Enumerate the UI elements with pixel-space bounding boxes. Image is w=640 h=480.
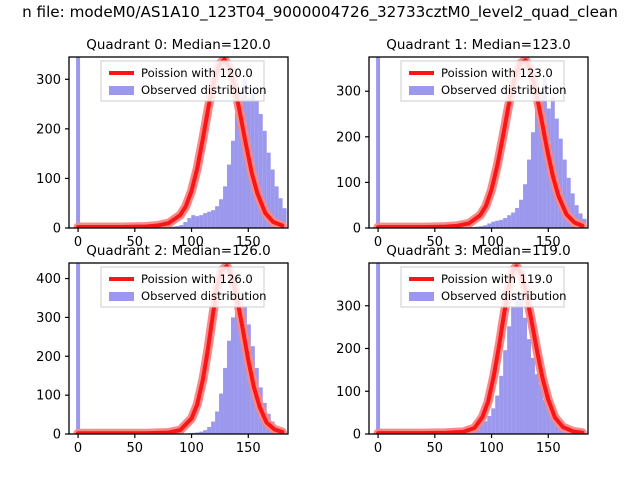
histogram-bar [207,427,211,434]
histogram-bar [376,57,380,228]
legend-label-poisson: Poission with 123.0 [441,66,553,80]
legend-label-observed: Observed distribution [441,289,567,303]
subplot-title: Quadrant 3: Median=119.0 [386,243,570,259]
subplot-title: Quadrant 0: Median=120.0 [86,37,270,53]
histogram-bar [231,317,235,434]
y-tick-label: 400 [36,272,61,287]
x-tick-label: 100 [179,441,204,456]
histogram-bar [483,421,487,434]
histogram-bar [203,213,207,228]
histogram-bar [487,223,491,228]
histogram-bar [491,408,495,434]
x-tick-label: 0 [374,441,382,456]
histogram-bar [219,394,223,434]
legend-swatch-observed-bar [109,86,134,95]
legend-swatch-observed-bar [409,86,434,95]
histogram-bar [503,218,507,228]
histogram-bar [495,221,499,228]
x-tick-label: 0 [374,235,382,250]
legend: Poission with 119.0Observed distribution [401,267,567,307]
histogram-bar [76,263,80,434]
histogram-bar [519,298,523,434]
histogram-bar [499,220,503,228]
legend-swatch-observed-bar [409,292,434,301]
legend-label-poisson: Poission with 126.0 [141,272,253,286]
legend-swatch-observed-bar [109,292,134,301]
subplot-quadrant-1: Quadrant 1: Median=123.00501001500100200… [336,37,588,250]
x-tick-label: 0 [74,235,82,250]
histogram-bar [515,208,519,228]
subplot-quadrant-2: Quadrant 2: Median=126.00501001500100200… [36,243,288,456]
histogram-bar [191,215,195,228]
histogram-bar [515,293,519,434]
histogram-bar [507,326,511,434]
histogram-bar [211,422,215,434]
y-tick-label: 100 [36,172,61,187]
histogram-bar [511,212,515,228]
histogram-bar [519,200,523,228]
histogram-bar [195,216,199,228]
subplots-container: Quadrant 0: Median=120.00501001500100200… [0,0,640,480]
y-tick-label: 200 [336,130,361,145]
y-tick-label: 200 [36,350,61,365]
histogram-bar [507,215,511,228]
histogram-bar [199,215,203,228]
figure-canvas: n file: modeM0/AS1A10_123T04_9000004726_… [0,0,640,480]
subplot-quadrant-3: Quadrant 3: Median=119.00501001500100200… [336,243,588,456]
x-tick-label: 50 [127,441,144,456]
histogram-bar [227,165,231,228]
legend-label-observed: Observed distribution [441,83,567,97]
y-tick-label: 200 [336,342,361,357]
y-tick-label: 0 [353,428,361,443]
histogram-bar [523,318,527,434]
y-tick-label: 100 [336,176,361,191]
histogram-bar [535,110,539,228]
x-tick-label: 150 [236,441,261,456]
histogram-bar [527,160,531,228]
subplot-title: Quadrant 2: Median=126.0 [86,243,270,259]
histogram-bar [376,263,380,434]
histogram-bar [255,101,259,228]
histogram-bar [503,350,507,434]
histogram-bar [495,396,499,434]
legend-label-observed: Observed distribution [141,289,267,303]
subplot-quadrant-0: Quadrant 0: Median=120.00501001500100200… [36,37,288,250]
y-tick-label: 0 [53,428,61,443]
histogram-bar [183,222,187,228]
x-tick-label: 0 [74,441,82,456]
y-tick-label: 100 [36,389,61,404]
legend: Poission with 126.0Observed distribution [101,267,267,307]
histogram-bar [207,212,211,228]
histogram-bar [491,222,495,228]
histogram-bar [527,339,531,434]
x-tick-label: 100 [479,441,504,456]
legend-label-poisson: Poission with 120.0 [141,66,253,80]
y-tick-label: 100 [336,385,361,400]
y-tick-label: 300 [36,73,61,88]
histogram-bar [223,186,227,228]
x-tick-label: 150 [536,441,561,456]
figure-suptitle: n file: modeM0/AS1A10_123T04_9000004726_… [22,0,618,24]
legend: Poission with 120.0Observed distribution [101,61,267,101]
histogram-bar [511,306,515,434]
legend-label-observed: Observed distribution [141,83,267,97]
histogram-bar [487,416,491,434]
y-tick-label: 300 [336,299,361,314]
y-tick-label: 0 [53,222,61,237]
histogram-bar [227,341,231,434]
histogram-bar [219,199,223,228]
x-tick-label: 50 [427,441,444,456]
histogram-bar [76,57,80,228]
histogram-bar [523,184,527,228]
histogram-bar [535,374,539,434]
histogram-bar [231,141,235,228]
legend-label-poisson: Poission with 119.0 [441,272,553,286]
y-tick-label: 200 [36,122,61,137]
histogram-bar [223,368,227,434]
subplot-title: Quadrant 1: Median=123.0 [386,37,570,53]
histogram-bar [531,132,535,228]
y-tick-label: 0 [353,222,361,237]
histogram-bar [187,218,191,228]
histogram-bar [211,210,215,228]
legend: Poission with 123.0Observed distribution [401,61,567,101]
histogram-bar [215,411,219,434]
histogram-bar [531,358,535,434]
y-tick-label: 300 [336,85,361,100]
histogram-bar [235,113,239,228]
histogram-bar [215,206,219,228]
y-tick-label: 300 [36,311,61,326]
histogram-bar [499,376,503,434]
